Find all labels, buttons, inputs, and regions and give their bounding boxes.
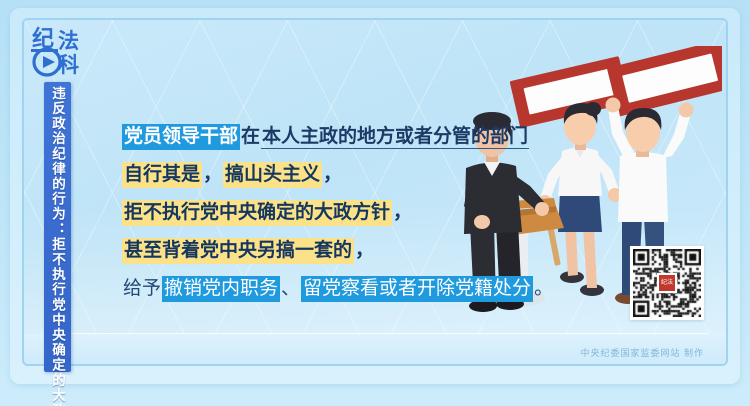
- text-segment-plain: ，: [202, 163, 223, 186]
- svg-text:纪: 纪: [32, 26, 54, 51]
- qr-center-label: 纪法: [659, 275, 675, 291]
- inner-frame: 党员领导干部在本人主政的地方或者分管的部门自行其是，搞山头主义，拒不执行党中央确…: [22, 18, 728, 366]
- text-segment-plain: ，: [322, 163, 343, 186]
- play-circle-icon: [34, 49, 60, 75]
- bottom-strip: 中央纪委国家监委网站 制作: [24, 334, 726, 364]
- svg-text:法: 法: [58, 29, 79, 53]
- qr-center-logo: 纪法: [657, 273, 677, 293]
- text-segment-plain: ，: [354, 239, 375, 262]
- text-segment-highlight-yellow: 搞山头主义: [223, 162, 322, 188]
- text-segment-plain: 、: [280, 277, 301, 300]
- body-text-line-3: 拒不执行党中央确定的大政方针，: [122, 194, 552, 232]
- poster-canvas: 党员领导干部在本人主政的地方或者分管的部门自行其是，搞山头主义，拒不执行党中央确…: [0, 0, 750, 406]
- body-text-line-5: 给予撤销党内职务、留党察看或者开除党籍处分。: [122, 270, 552, 308]
- text-segment-highlight-blue: 留党察看或者开除党籍处分: [301, 276, 533, 302]
- logo-char-ji: 纪: [32, 26, 54, 51]
- vertical-title-text: 违反政治纪律的行为：拒不执行党中央确定的大政方针: [44, 86, 71, 406]
- text-segment-plain: ，: [392, 201, 413, 224]
- text-segment-underline: 本人主政的地方或者分管的部门: [261, 125, 529, 149]
- brand-logo[interactable]: 纪 法 科: [30, 22, 92, 84]
- text-segment-highlight-yellow: 自行其是: [122, 162, 202, 188]
- body-text-line-2: 自行其是，搞山头主义，: [122, 156, 552, 194]
- text-segment-highlight-blue: 党员领导干部: [122, 124, 240, 150]
- text-segment-highlight-yellow: 拒不执行党中央确定的大政方针: [122, 200, 392, 226]
- body-text-block: 党员领导干部在本人主政的地方或者分管的部门自行其是，搞山头主义，拒不执行党中央确…: [122, 118, 552, 308]
- text-segment-plain: 给予: [122, 277, 162, 300]
- logo-underline: [31, 49, 58, 52]
- footer-credit: 中央纪委国家监委网站 制作: [580, 346, 704, 359]
- text-segment-highlight-blue: 撤销党内职务: [162, 276, 280, 302]
- vertical-title-bar: 违反政治纪律的行为：拒不执行党中央确定的大政方针: [44, 82, 71, 372]
- text-segment-plain: 。: [533, 277, 554, 300]
- body-text-line-4: 甚至背着党中央另搞一套的，: [122, 232, 552, 270]
- text-segment-plain: 在: [240, 125, 261, 148]
- logo-char-fa: 法: [58, 29, 79, 53]
- text-segment-highlight-yellow: 甚至背着党中央另搞一套的: [122, 238, 354, 264]
- body-text-line-1: 党员领导干部在本人主政的地方或者分管的部门: [122, 118, 552, 156]
- sign-right: [607, 46, 722, 117]
- qr-code[interactable]: 纪法: [630, 246, 704, 320]
